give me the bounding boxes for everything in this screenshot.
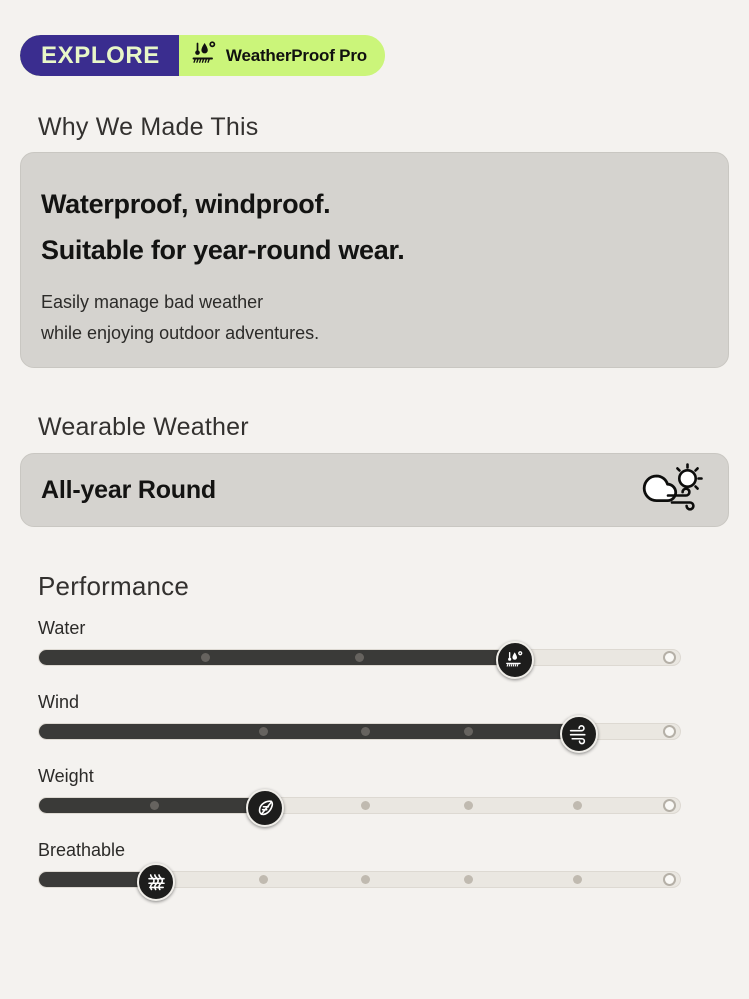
slider-fill-water — [39, 650, 513, 665]
slider-row-wind: Wind — [38, 692, 681, 740]
explore-badge-right: WeatherProof Pro — [179, 35, 385, 76]
slider-knob-weight[interactable] — [246, 789, 284, 827]
why-headline: Waterproof, windproof. Suitable for year… — [41, 181, 728, 274]
slider-fill-wind — [39, 724, 577, 739]
slider-end-dot-breathable — [663, 873, 676, 886]
humidity-drop-icon — [505, 650, 525, 669]
explore-label: EXPLORE — [41, 42, 160, 70]
slider-end-dot-water — [663, 651, 676, 664]
why-headline-line2: Suitable for year-round wear. — [41, 227, 728, 273]
performance-sliders: Water — [38, 618, 681, 888]
slider-row-water: Water — [38, 618, 681, 666]
slider-label-water: Water — [38, 618, 681, 639]
why-headline-line1: Waterproof, windproof. — [41, 181, 728, 227]
slider-tick — [361, 875, 370, 884]
slider-tick — [464, 727, 473, 736]
slider-label-wind: Wind — [38, 692, 681, 713]
section-title-performance: Performance — [38, 571, 189, 602]
slider-tick — [573, 801, 582, 810]
slider-tick — [259, 727, 268, 736]
why-body-line2: while enjoying outdoor adventures. — [41, 318, 728, 349]
slider-end-dot-wind — [663, 725, 676, 738]
slider-end-dot-weight — [663, 799, 676, 812]
why-body: Easily manage bad weather while enjoying… — [41, 287, 728, 350]
slider-tick — [573, 875, 582, 884]
why-card: Waterproof, windproof. Suitable for year… — [20, 152, 729, 368]
sun-cloud-wind-icon — [642, 463, 702, 518]
feather-icon — [255, 798, 276, 818]
wind-swirl-icon — [569, 724, 590, 743]
slider-tick — [464, 801, 473, 810]
heat-waves-icon — [146, 872, 167, 892]
slider-row-breathable: Breathable — [38, 840, 681, 888]
section-title-wearable: Wearable Weather — [38, 413, 249, 442]
all-year-round-card[interactable]: All-year Round — [20, 453, 729, 527]
all-year-round-label: All-year Round — [41, 476, 216, 505]
section-title-why: Why We Made This — [38, 113, 258, 142]
product-label: WeatherProof Pro — [226, 46, 367, 66]
slider-knob-wind[interactable] — [560, 715, 598, 753]
why-body-line1: Easily manage bad weather — [41, 287, 728, 318]
slider-track-breathable[interactable] — [38, 871, 681, 888]
slider-tick — [150, 801, 159, 810]
slider-knob-breathable[interactable] — [137, 863, 175, 901]
slider-track-weight[interactable] — [38, 797, 681, 814]
slider-tick — [355, 653, 364, 662]
slider-tick — [361, 801, 370, 810]
slider-tick — [259, 875, 268, 884]
explore-badge-left: EXPLORE — [20, 35, 179, 76]
slider-tick — [464, 875, 473, 884]
slider-knob-water[interactable] — [496, 641, 534, 679]
humidity-drop-icon — [191, 40, 219, 71]
slider-label-weight: Weight — [38, 766, 681, 787]
slider-label-breathable: Breathable — [38, 840, 681, 861]
slider-row-weight: Weight — [38, 766, 681, 814]
explore-badge[interactable]: EXPLORE WeatherProof Pro — [20, 35, 385, 76]
slider-track-wind[interactable] — [38, 723, 681, 740]
slider-track-water[interactable] — [38, 649, 681, 666]
